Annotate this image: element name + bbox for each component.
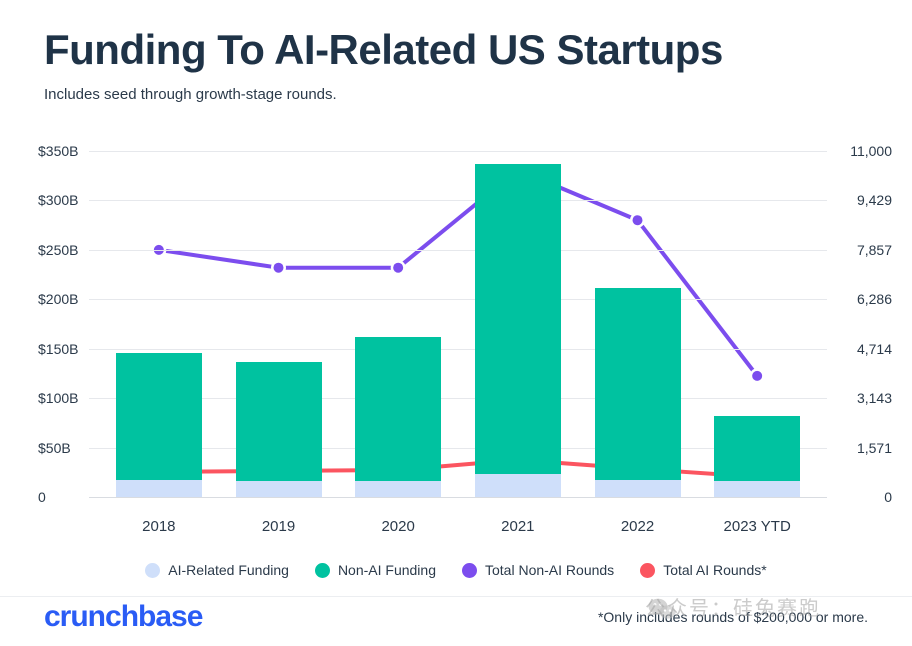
data-point[interactable] bbox=[633, 215, 643, 225]
data-point[interactable] bbox=[274, 263, 284, 273]
x-axis-tick-label: 2018 bbox=[142, 518, 175, 535]
bar-segment-ai-funding[interactable] bbox=[595, 480, 681, 497]
crunchbase-logo: crunchbase bbox=[44, 600, 202, 634]
axis-baseline bbox=[89, 497, 827, 498]
legend-label: AI-Related Funding bbox=[168, 562, 289, 578]
left-axis-tick-label: $300B bbox=[38, 192, 78, 208]
page-subtitle: Includes seed through growth-stage round… bbox=[44, 86, 337, 103]
bar-group[interactable] bbox=[475, 164, 561, 497]
bar-segment-non-ai-funding[interactable] bbox=[116, 353, 202, 481]
footer-divider bbox=[0, 596, 912, 597]
legend-label: Non-AI Funding bbox=[338, 562, 436, 578]
gridline bbox=[89, 299, 827, 300]
right-axis-tick-label: 6,286 bbox=[857, 291, 892, 307]
left-axis-tick-label: $250B bbox=[38, 242, 78, 258]
x-axis-tick-label: 2021 bbox=[501, 518, 534, 535]
bar-segment-non-ai-funding[interactable] bbox=[475, 164, 561, 474]
bar-segment-non-ai-funding[interactable] bbox=[355, 337, 441, 481]
bar-segment-non-ai-funding[interactable] bbox=[236, 362, 322, 482]
bar-segment-ai-funding[interactable] bbox=[475, 474, 561, 497]
right-axis-tick-label: 3,143 bbox=[857, 390, 892, 406]
bar-segment-ai-funding[interactable] bbox=[116, 480, 202, 497]
right-axis-tick-label: 9,429 bbox=[857, 192, 892, 208]
gridline bbox=[89, 349, 827, 350]
gridline bbox=[89, 151, 827, 152]
x-axis-tick-label: 2022 bbox=[621, 518, 654, 535]
legend-item[interactable]: Total Non-AI Rounds bbox=[462, 562, 614, 578]
data-point[interactable] bbox=[393, 263, 403, 273]
legend-item[interactable]: AI-Related Funding bbox=[145, 562, 289, 578]
right-axis-tick-label: 0 bbox=[884, 489, 892, 505]
bar-segment-ai-funding[interactable] bbox=[236, 481, 322, 497]
bar-segment-non-ai-funding[interactable] bbox=[595, 288, 681, 480]
left-axis-tick-label: $150B bbox=[38, 341, 78, 357]
right-axis-tick-label: 11,000 bbox=[850, 143, 892, 159]
right-axis-tick-label: 1,571 bbox=[857, 440, 892, 456]
left-axis-tick-label: $350B bbox=[38, 143, 78, 159]
left-axis-tick-label: 0 bbox=[38, 489, 46, 505]
bar-segment-ai-funding[interactable] bbox=[714, 481, 800, 497]
legend-label: Total AI Rounds* bbox=[663, 562, 767, 578]
legend-swatch-icon bbox=[640, 563, 655, 578]
legend-item[interactable]: Non-AI Funding bbox=[315, 562, 436, 578]
legend-swatch-icon bbox=[462, 563, 477, 578]
chart-page: Funding To AI-Related US Startups Includ… bbox=[0, 0, 912, 646]
x-axis-tick-label: 2020 bbox=[381, 518, 414, 535]
legend-swatch-icon bbox=[315, 563, 330, 578]
page-title: Funding To AI-Related US Startups bbox=[44, 26, 723, 74]
bar-group[interactable] bbox=[116, 353, 202, 497]
left-axis-tick-label: $50B bbox=[38, 440, 71, 456]
bar-segment-non-ai-funding[interactable] bbox=[714, 416, 800, 481]
bar-group[interactable] bbox=[355, 337, 441, 497]
legend-swatch-icon bbox=[145, 563, 160, 578]
bar-group[interactable] bbox=[236, 362, 322, 497]
x-axis-tick-label: 2023 YTD bbox=[724, 518, 791, 535]
left-axis-tick-label: $100B bbox=[38, 390, 78, 406]
right-axis-tick-label: 4,714 bbox=[857, 341, 892, 357]
legend-item[interactable]: Total AI Rounds* bbox=[640, 562, 767, 578]
gridline bbox=[89, 200, 827, 201]
gridline bbox=[89, 250, 827, 251]
right-axis-tick-label: 7,857 bbox=[857, 242, 892, 258]
footnote: *Only includes rounds of $200,000 or mor… bbox=[598, 609, 868, 625]
legend-label: Total Non-AI Rounds bbox=[485, 562, 614, 578]
bar-group[interactable] bbox=[714, 416, 800, 497]
chart-legend: AI-Related FundingNon-AI FundingTotal No… bbox=[0, 562, 912, 578]
bar-group[interactable] bbox=[595, 288, 681, 497]
line-series-overlay bbox=[99, 151, 817, 497]
chart-plot-area bbox=[99, 151, 817, 497]
bar-segment-ai-funding[interactable] bbox=[355, 481, 441, 497]
data-point[interactable] bbox=[752, 371, 762, 381]
left-axis-tick-label: $200B bbox=[38, 291, 78, 307]
x-axis-tick-label: 2019 bbox=[262, 518, 295, 535]
